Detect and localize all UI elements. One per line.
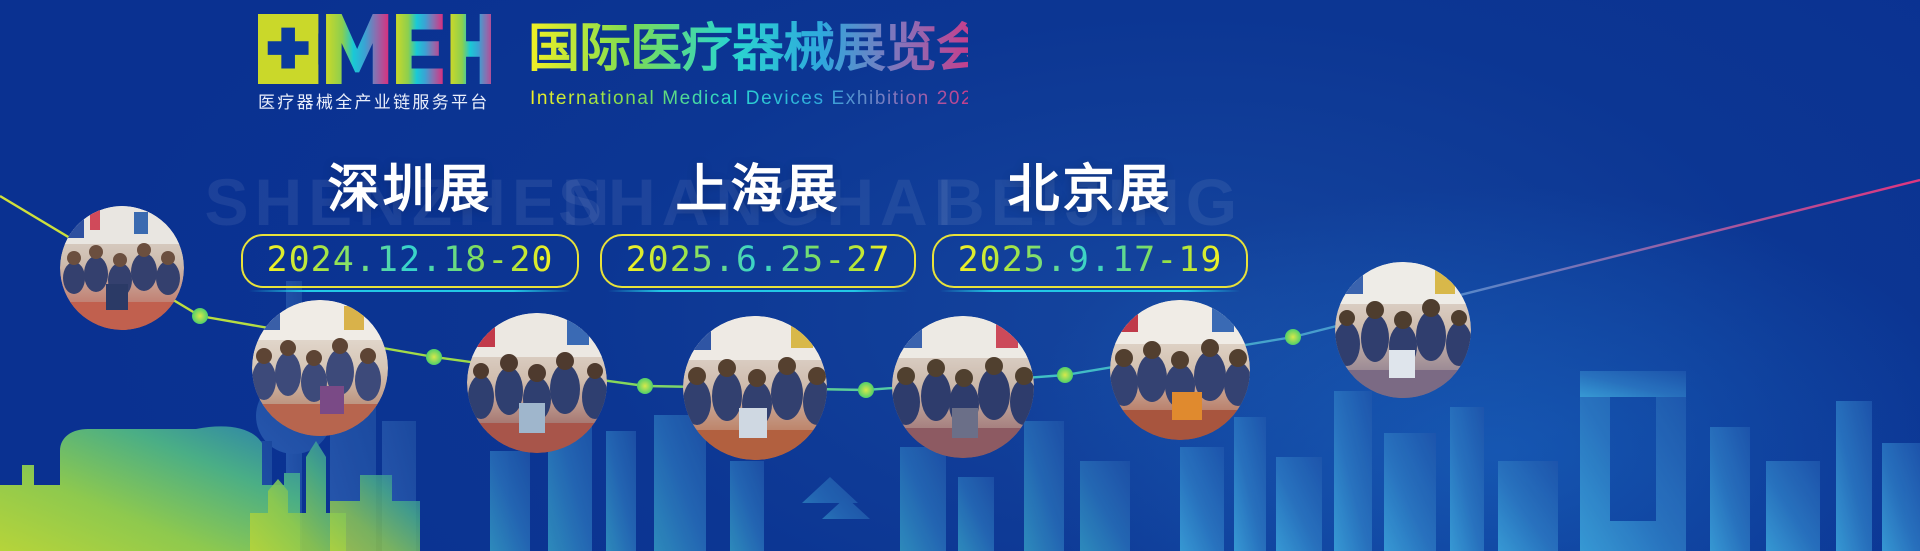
city-list: SHENZHEN 深圳展 2024.12.18-20 SHANGHAI 上海展 … — [0, 146, 1920, 296]
svg-text:International Medical Devices: International Medical Devices Exhibition… — [530, 88, 968, 109]
photo-circle-5[interactable] — [892, 316, 1034, 458]
logo-tagline: 医疗器械全产业链服务平台 — [258, 88, 498, 113]
date-pill-shanghai[interactable]: 2025.6.25-27 — [600, 234, 917, 288]
city-name-shanghai: 上海展 — [598, 146, 918, 216]
pill-underline-shenzhen — [249, 290, 572, 292]
pill-underline-beijing — [940, 290, 1241, 292]
city-block-beijing[interactable]: BEIJING 北京展 2025.9.17-19 — [930, 146, 1250, 288]
city-name-beijing: 北京展 — [930, 146, 1250, 216]
photo-circle-7[interactable] — [1335, 262, 1471, 398]
svg-text:国际医疗器械展览会: 国际医疗器械展览会 — [528, 20, 968, 78]
cmeh-logo — [258, 14, 491, 84]
photo-circle-4[interactable] — [683, 316, 827, 460]
photo-crowd-3 — [467, 313, 607, 453]
title-block: 国际医疗器械展览会 International Medical Devices … — [528, 16, 968, 110]
exhibition-banner: 医疗器械全产业链服务平台 国际医疗器械展览会 — [0, 0, 1920, 551]
date-text-shenzhen: 2024.12.18-20 — [267, 240, 554, 280]
title-chinese: 国际医疗器械展览会 — [528, 16, 968, 78]
photo-crowd-1 — [60, 206, 184, 330]
photo-crowd-6 — [1110, 300, 1250, 440]
photo-crowd-2 — [252, 300, 388, 436]
city-block-shanghai[interactable]: SHANGHAI 上海展 2025.6.25-27 — [598, 146, 918, 288]
logo-block: 医疗器械全产业链服务平台 — [258, 14, 498, 113]
photo-circle-2[interactable] — [252, 300, 388, 436]
photo-crowd-5 — [892, 316, 1034, 458]
city-block-shenzhen[interactable]: SHENZHEN 深圳展 2024.12.18-20 — [240, 146, 580, 288]
date-text-beijing: 2025.9.17-19 — [958, 240, 1223, 280]
date-pill-beijing[interactable]: 2025.9.17-19 — [932, 234, 1249, 288]
title-english: International Medical Devices Exhibition… — [528, 84, 968, 110]
city-name-shenzhen: 深圳展 — [240, 146, 580, 216]
pill-underline-shanghai — [608, 290, 909, 292]
date-text-shanghai: 2025.6.25-27 — [626, 240, 891, 280]
photo-crowd-4 — [683, 316, 827, 460]
photo-circle-1[interactable] — [60, 206, 184, 330]
photo-crowd-7 — [1335, 262, 1471, 398]
photo-circle-6[interactable] — [1110, 300, 1250, 440]
date-pill-shenzhen[interactable]: 2024.12.18-20 — [241, 234, 580, 288]
banner-header: 医疗器械全产业链服务平台 国际医疗器械展览会 — [0, 0, 1920, 120]
photo-circle-3[interactable] — [467, 313, 607, 453]
